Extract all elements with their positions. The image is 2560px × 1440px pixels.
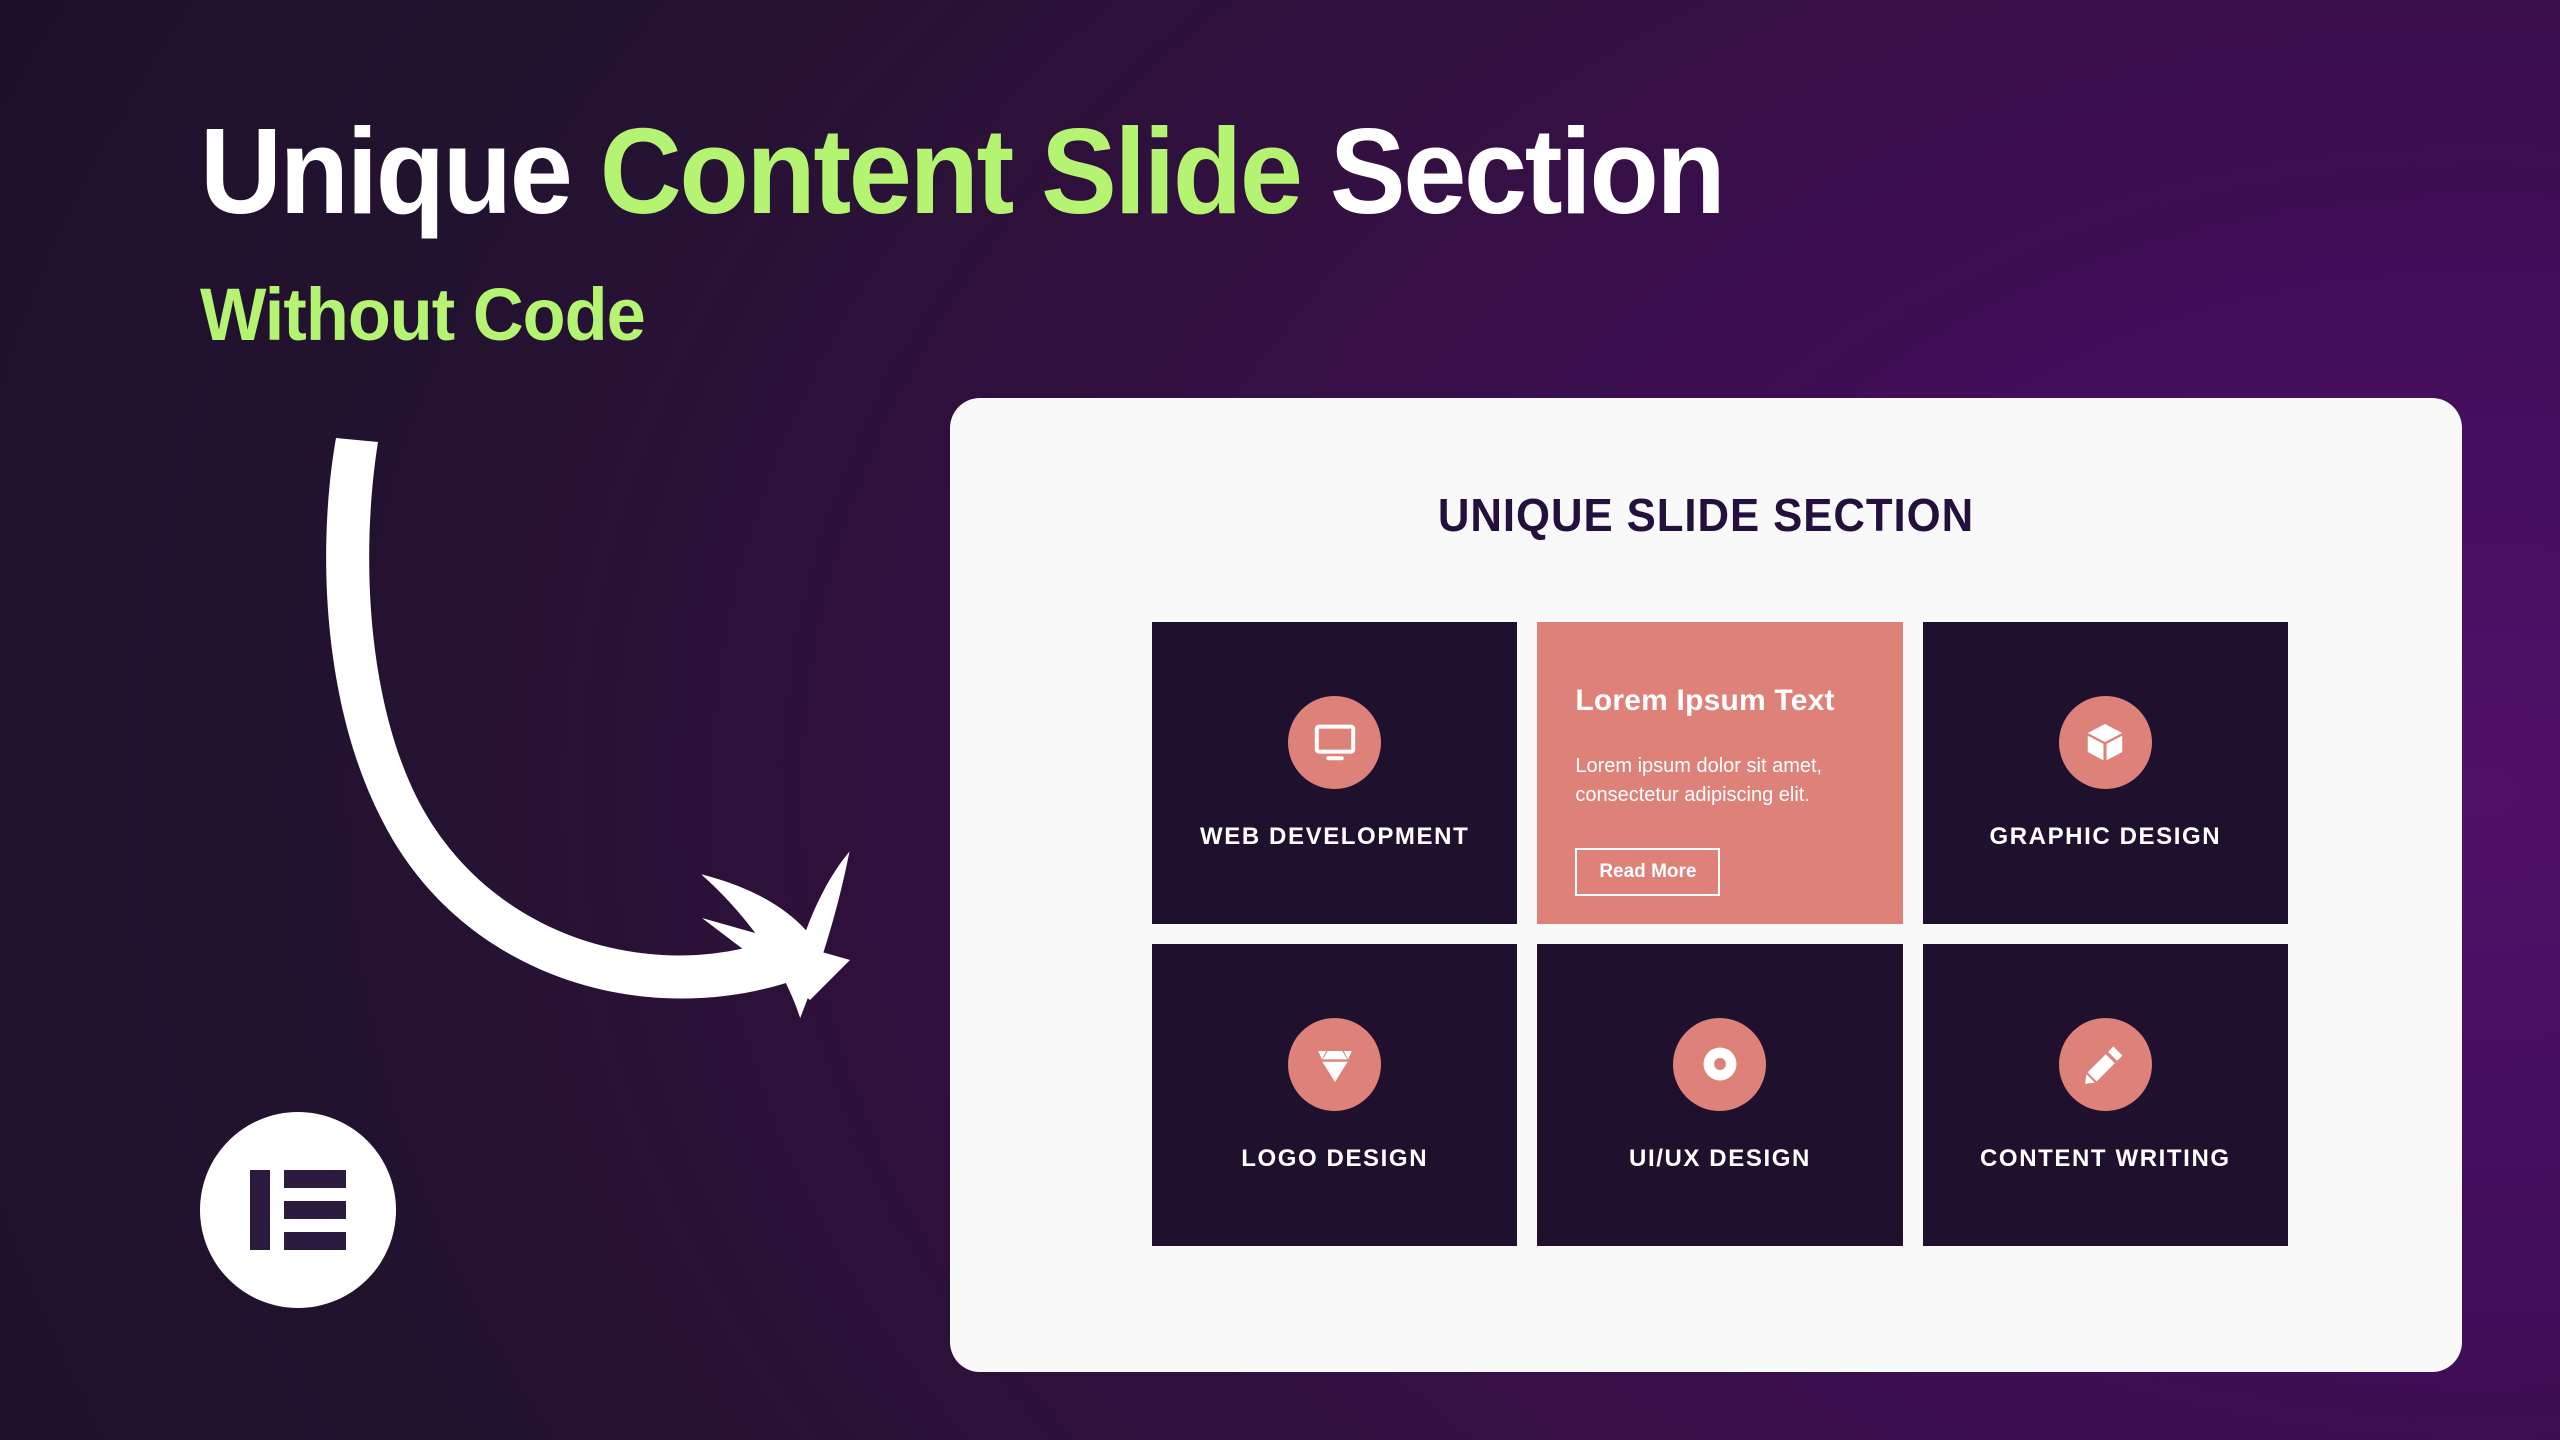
card-label: LOGO DESIGN (1241, 1145, 1428, 1173)
slide-section-panel: UNIQUE SLIDE SECTION WEB DEVELOPMENT Lor… (950, 398, 2462, 1372)
active-card-title: Lorem Ipsum Text (1575, 684, 1834, 718)
page-subtitle: Without Code (200, 272, 2290, 357)
logo-vertical-bar (250, 1170, 270, 1250)
logo-bar-middle (284, 1201, 346, 1219)
elementor-logo (200, 1112, 396, 1308)
service-card-web-development[interactable]: WEB DEVELOPMENT (1152, 622, 1517, 924)
elementor-mark (250, 1170, 346, 1250)
cube-icon (2059, 696, 2152, 789)
active-card-description: Lorem ipsum dolor sit amet, consectetur … (1575, 752, 1845, 810)
panel-heading: UNIQUE SLIDE SECTION (988, 488, 2424, 542)
title-segment-two: Content Slide (600, 103, 1330, 239)
service-card-grid: WEB DEVELOPMENT Lorem Ipsum Text Lorem i… (1152, 622, 2288, 1246)
title-segment-one: Unique (200, 103, 600, 239)
curved-arrow (290, 420, 930, 1040)
service-card-graphic-design[interactable]: GRAPHIC DESIGN (1923, 622, 2288, 924)
logo-bar-bottom (284, 1232, 346, 1250)
service-card-logo-design[interactable]: LOGO DESIGN (1152, 944, 1517, 1246)
pencil-icon (2059, 1018, 2152, 1111)
service-card-uiux-design[interactable]: UI/UX DESIGN (1537, 944, 1902, 1246)
card-label: GRAPHIC DESIGN (1989, 823, 2221, 851)
diamond-icon (1288, 1018, 1381, 1111)
card-label: UI/UX DESIGN (1629, 1145, 1811, 1173)
disc-icon (1673, 1018, 1766, 1111)
title-segment-three: Section (1330, 103, 1724, 239)
page-title: Unique Content Slide Section (200, 110, 2246, 232)
read-more-button[interactable]: Read More (1575, 848, 1720, 896)
service-card-active[interactable]: Lorem Ipsum Text Lorem ipsum dolor sit a… (1537, 622, 1902, 924)
service-card-content-writing[interactable]: CONTENT WRITING (1923, 944, 2288, 1246)
hero-text-block: Unique Content Slide Section Without Cod… (200, 110, 2400, 357)
logo-horizontal-bars (284, 1170, 346, 1250)
logo-bar-top (284, 1170, 346, 1188)
card-label: WEB DEVELOPMENT (1200, 823, 1469, 851)
monitor-icon (1288, 696, 1381, 789)
card-label: CONTENT WRITING (1980, 1145, 2231, 1173)
